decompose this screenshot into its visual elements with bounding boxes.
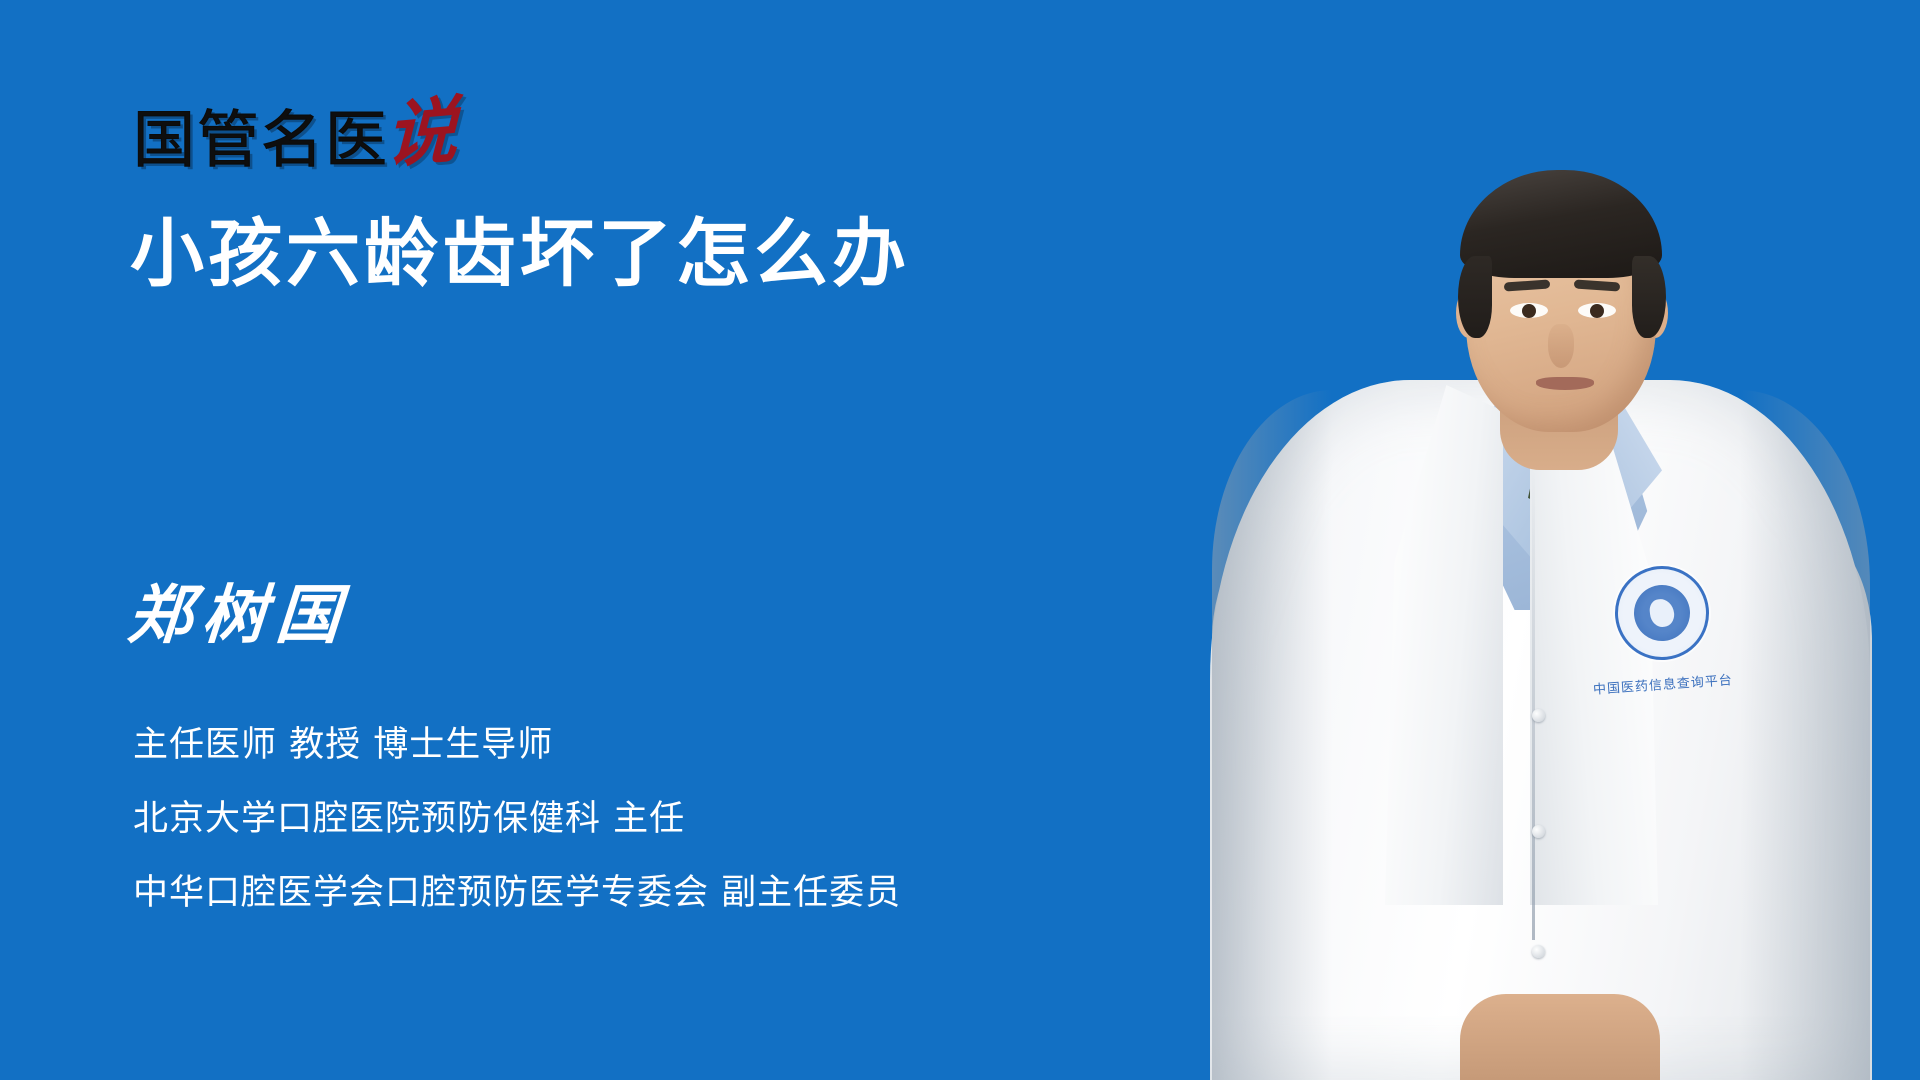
credential-line-1: 主任医师 教授 博士生导师	[133, 725, 901, 765]
credential-line-3: 中华口腔医学会口腔预防医学专委会 副主任委员	[133, 873, 901, 913]
brand-logo: 国管名医 说	[133, 93, 457, 171]
pupil-left	[1522, 304, 1536, 318]
coat-button-2	[1532, 825, 1545, 838]
hair-side-left	[1458, 256, 1492, 338]
pupil-right	[1590, 304, 1604, 318]
brand-logo-main-text: 国管名医	[133, 109, 389, 171]
page-title: 小孩六龄齿坏了怎么办	[130, 212, 910, 296]
coat-shade-right	[1740, 390, 1870, 1080]
nose	[1548, 324, 1574, 368]
speaker-name: 郑树国	[125, 580, 352, 652]
coat-shade-left	[1212, 390, 1332, 1080]
brand-logo-accent-text: 说	[385, 98, 458, 167]
credential-line-2: 北京大学口腔医院预防保健科 主任	[133, 799, 901, 839]
poster-canvas: 国管名医 说 小孩六龄齿坏了怎么办 郑树国 主任医师 教授 博士生导师 北京大学…	[0, 0, 1920, 1080]
speaker-credentials: 主任医师 教授 博士生导师 北京大学口腔医院预防保健科 主任 中华口腔医学会口腔…	[133, 725, 901, 913]
eye-right	[1578, 303, 1616, 318]
hair-side-right	[1632, 256, 1666, 338]
coat-button-3	[1532, 945, 1545, 958]
mouth	[1536, 377, 1594, 390]
eye-left	[1510, 303, 1548, 318]
coat-button-1	[1532, 709, 1545, 722]
speaker-portrait: 中国医药信息查询平台	[1160, 0, 1920, 1080]
coat-center-seam	[1532, 470, 1535, 940]
clasped-hands	[1460, 994, 1660, 1080]
badge-emblem-icon	[1631, 582, 1693, 644]
